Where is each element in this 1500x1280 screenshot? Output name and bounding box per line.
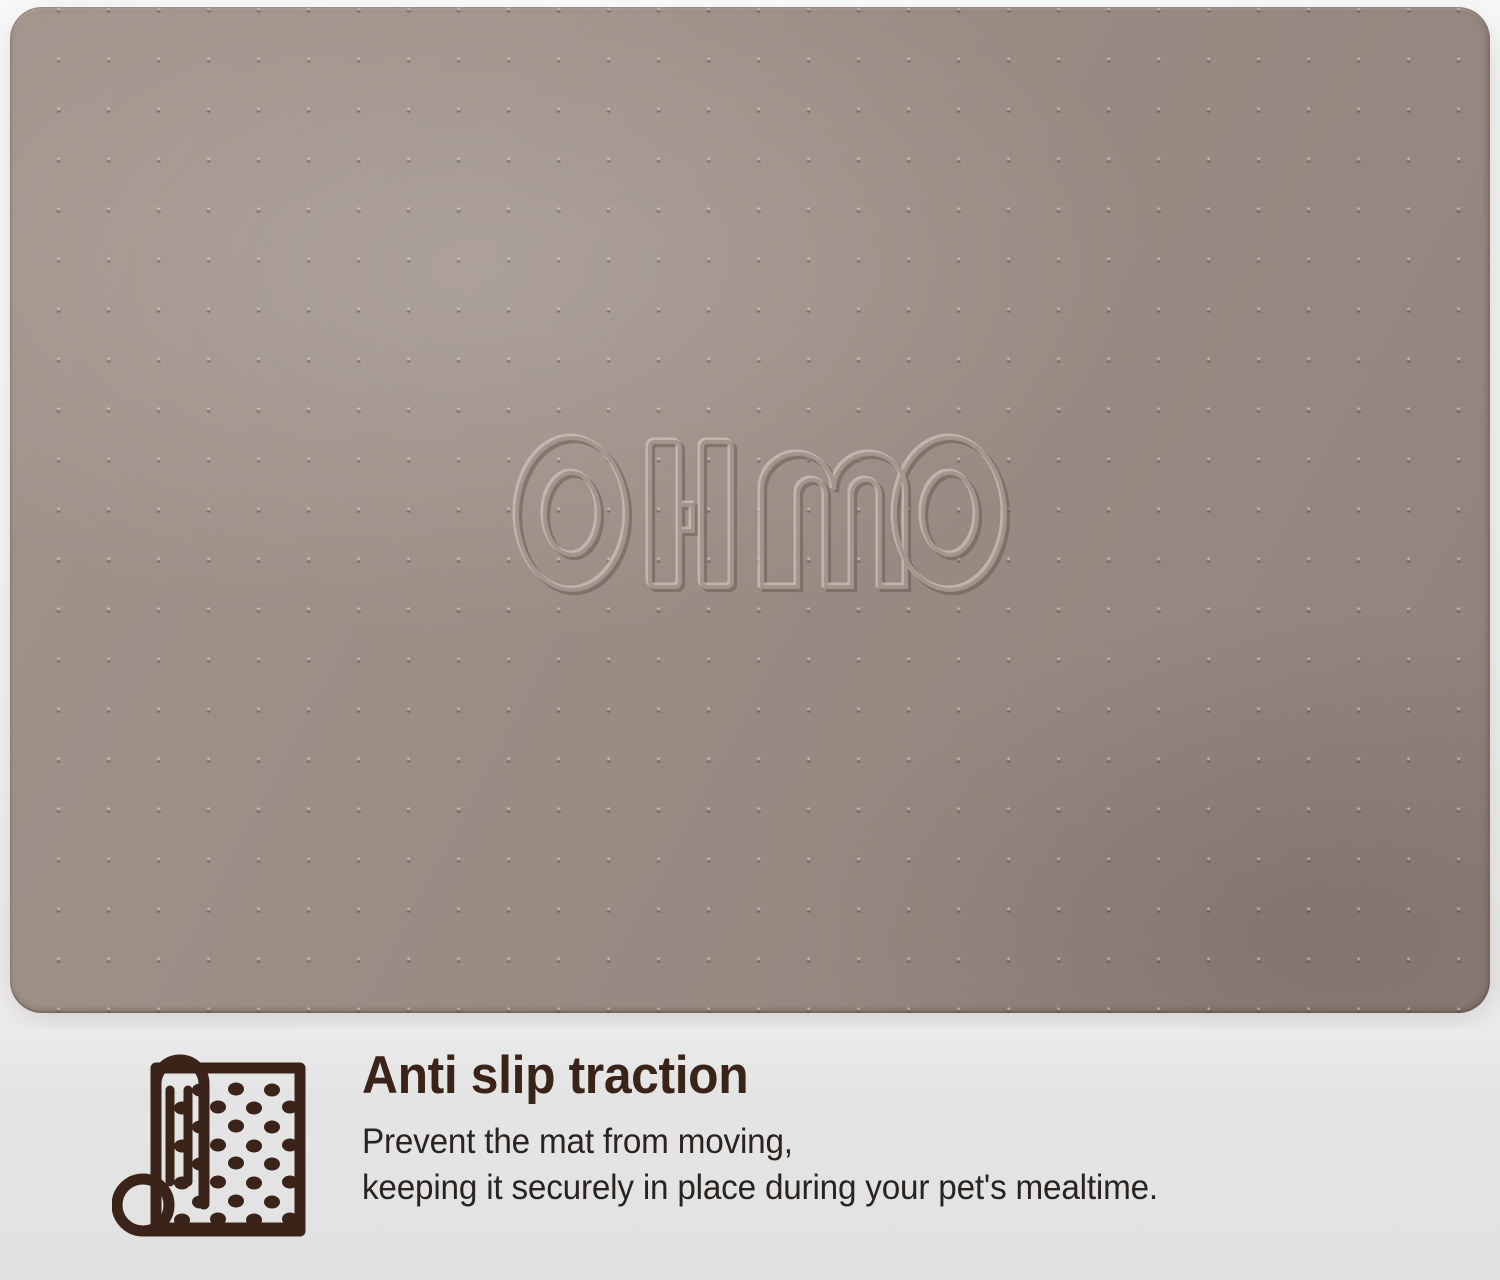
feature-description-line-1: Prevent the mat from moving, xyxy=(362,1119,1158,1165)
feature-headline: Anti slip traction xyxy=(362,1048,1150,1103)
product-photo-area xyxy=(0,0,1500,1028)
feature-description-line-2: keeping it securely in place during your… xyxy=(362,1165,1158,1211)
feature-caption-panel: Anti slip traction Prevent the mat from … xyxy=(0,1028,1500,1280)
feature-text-block: Anti slip traction Prevent the mat from … xyxy=(362,1042,1200,1210)
embossed-brand-logo xyxy=(510,432,1010,597)
product-feature-card: Anti slip traction Prevent the mat from … xyxy=(0,0,1500,1280)
rolled-mat-icon xyxy=(112,1042,310,1242)
pet-feeding-mat xyxy=(10,7,1490,1013)
